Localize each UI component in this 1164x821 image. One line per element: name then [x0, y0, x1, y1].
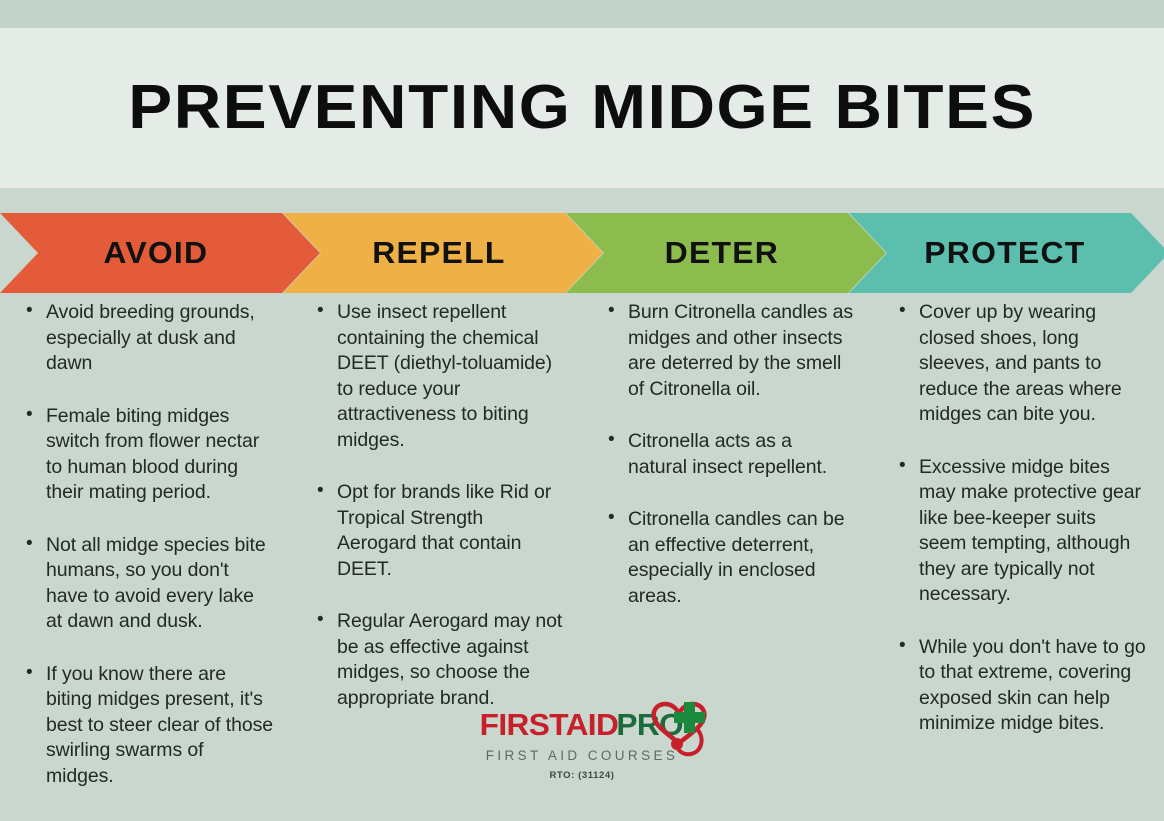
- list-item: Cover up by wearing closed shoes, long s…: [899, 300, 1146, 428]
- poster-header: PREVENTING MIDGE BITES: [0, 28, 1164, 188]
- stage-arrow-protect: PROTECT: [849, 213, 1164, 293]
- list-item: Opt for brands like Rid or Tropical Stre…: [317, 480, 564, 582]
- stage-label-protect: PROTECT: [844, 235, 1164, 271]
- heart-stethoscope-cross-icon: [643, 688, 717, 764]
- list-item: Use insect repellent containing the chem…: [317, 300, 564, 453]
- bullet-list-deter: Burn Citronella candles as midges and ot…: [608, 300, 855, 609]
- list-item: Citronella acts as a natural insect repe…: [608, 429, 855, 480]
- bullet-list-protect: Cover up by wearing closed shoes, long s…: [899, 300, 1146, 737]
- list-item: Female biting midges switch from flower …: [26, 404, 273, 506]
- list-item: Not all midge species bite humans, so yo…: [26, 533, 273, 635]
- list-item: Regular Aerogard may not be as effective…: [317, 609, 564, 711]
- bullet-list-repell: Use insect repellent containing the chem…: [317, 300, 564, 711]
- brand-logo: FIRSTAIDPRO FIRST AID COURSES RTO: (3112…: [0, 706, 1164, 781]
- stage-label-deter: DETER: [561, 235, 891, 271]
- stage-label-avoid: AVOID: [0, 235, 325, 271]
- stage-arrow-avoid: AVOID: [0, 213, 320, 293]
- logo-word-firstaid: FIRSTAID: [480, 709, 619, 740]
- top-accent-band: [0, 0, 1164, 28]
- logo-wordmark: FIRSTAIDPRO: [481, 706, 682, 742]
- page-title: PREVENTING MIDGE BITES: [128, 77, 1036, 139]
- list-item: Burn Citronella candles as midges and ot…: [608, 300, 855, 402]
- stage-arrow-repell: REPELL: [283, 213, 603, 293]
- list-item: Avoid breeding grounds, especially at du…: [26, 300, 273, 377]
- logo-rto-number: RTO: (31124): [549, 770, 614, 781]
- list-item: Citronella candles can be an effective d…: [608, 507, 855, 609]
- stage-arrow-deter: DETER: [566, 213, 886, 293]
- stage-arrow-banner: AVOID REPELL DETER PROTECT: [0, 213, 1164, 293]
- infographic-poster: PREVENTING MIDGE BITES AVOID REPELL DETE…: [0, 0, 1164, 821]
- list-item: Excessive midge bites may make protectiv…: [899, 455, 1146, 608]
- stage-label-repell: REPELL: [278, 235, 608, 271]
